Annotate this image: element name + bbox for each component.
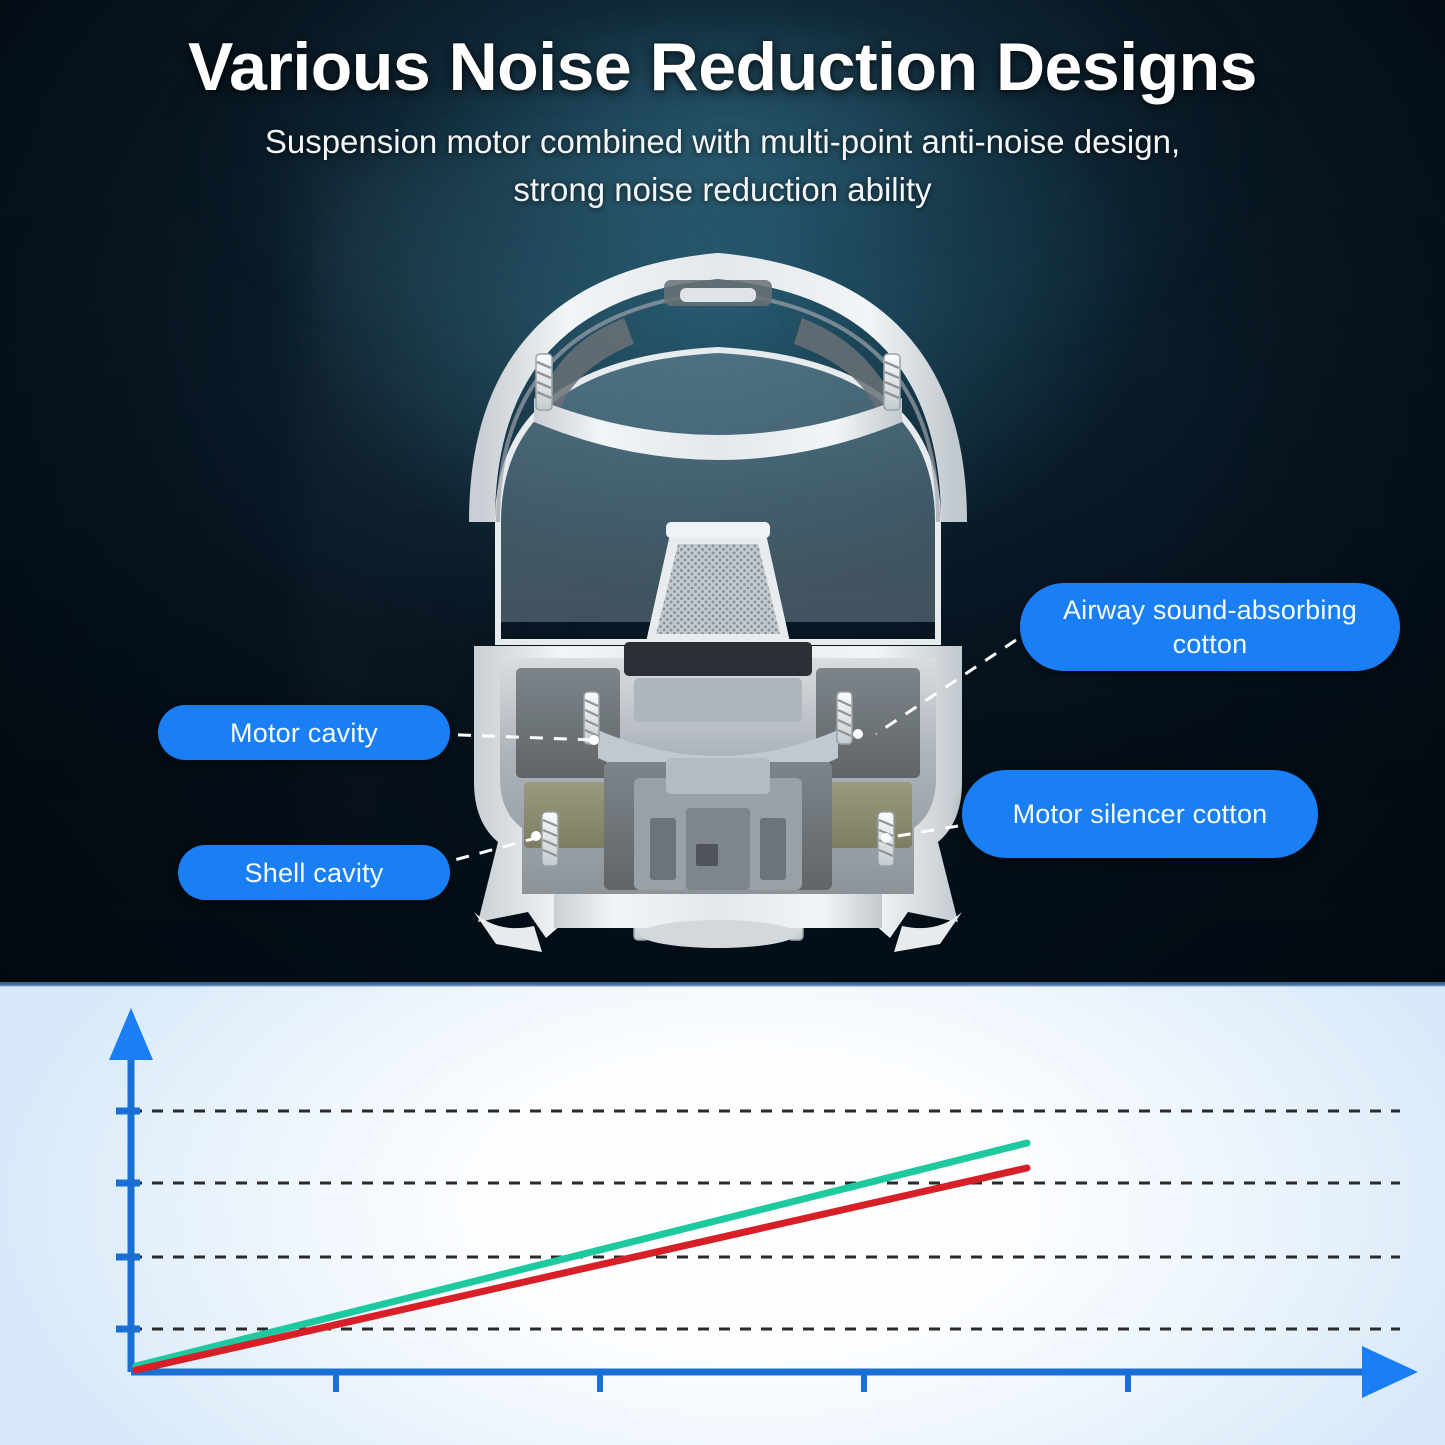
motor-vane-left bbox=[650, 818, 676, 880]
subtitle-line-1: Suspension motor combined with multi-poi… bbox=[0, 118, 1445, 166]
left-chamber bbox=[516, 668, 620, 778]
top-deck-bar bbox=[624, 642, 812, 676]
callout-silencer-cotton-label: Motor silencer cotton bbox=[984, 797, 1296, 831]
motor-vane-right bbox=[760, 818, 786, 880]
upper-plenum bbox=[634, 678, 802, 722]
chart-canvas bbox=[0, 982, 1445, 1445]
callout-shell-cavity-label: Shell cavity bbox=[200, 856, 428, 890]
noise-vs-suction-chart: 80dB 60dB 40dB 20dB 0 4Kpa 8Kpa 12Kpa 16… bbox=[0, 982, 1445, 1445]
page-title: Various Noise Reduction Designs bbox=[0, 28, 1445, 106]
right-cotton-block bbox=[822, 782, 912, 848]
arch-spring-right bbox=[884, 354, 900, 410]
y-axis-arrow bbox=[109, 1008, 153, 1060]
callout-airway-cotton[interactable]: Airway sound-absorbing cotton bbox=[1020, 583, 1400, 671]
filter-cone-cap bbox=[666, 522, 770, 538]
right-chamber-airway bbox=[816, 668, 920, 778]
anchor-motor-cavity bbox=[589, 735, 599, 745]
page-subtitle: Suspension motor combined with multi-poi… bbox=[0, 118, 1445, 214]
product-cutaway-illustration bbox=[438, 222, 998, 962]
series-line-others bbox=[136, 1143, 1027, 1366]
hero-section: Various Noise Reduction Designs Suspensi… bbox=[0, 0, 1445, 982]
suspension-spring-upper-right bbox=[837, 692, 852, 744]
anchor-shell-cavity bbox=[531, 831, 541, 841]
x-axis-arrow bbox=[1362, 1346, 1418, 1398]
motor-top-cap bbox=[666, 758, 770, 794]
base-boss bbox=[640, 920, 796, 948]
subtitle-line-2: strong noise reduction ability bbox=[0, 166, 1445, 214]
gridlines bbox=[131, 1111, 1400, 1329]
anchor-airway-cotton bbox=[853, 729, 863, 739]
callout-motor-cavity[interactable]: Motor cavity bbox=[158, 705, 450, 760]
arch-spring-left bbox=[536, 354, 552, 410]
callout-silencer-cotton[interactable]: Motor silencer cotton bbox=[962, 770, 1318, 858]
motor-label bbox=[696, 844, 718, 866]
callout-shell-cavity[interactable]: Shell cavity bbox=[178, 845, 450, 900]
suspension-spring-lower-left bbox=[542, 812, 558, 866]
handle-grip bbox=[680, 288, 756, 302]
callout-airway-cotton-label: Airway sound-absorbing cotton bbox=[1042, 593, 1378, 661]
anchor-silencer-cotton bbox=[881, 833, 891, 843]
infographic-page: Various Noise Reduction Designs Suspensi… bbox=[0, 0, 1445, 1445]
callout-motor-cavity-label: Motor cavity bbox=[180, 716, 428, 750]
series-line-asypets bbox=[136, 1168, 1027, 1370]
